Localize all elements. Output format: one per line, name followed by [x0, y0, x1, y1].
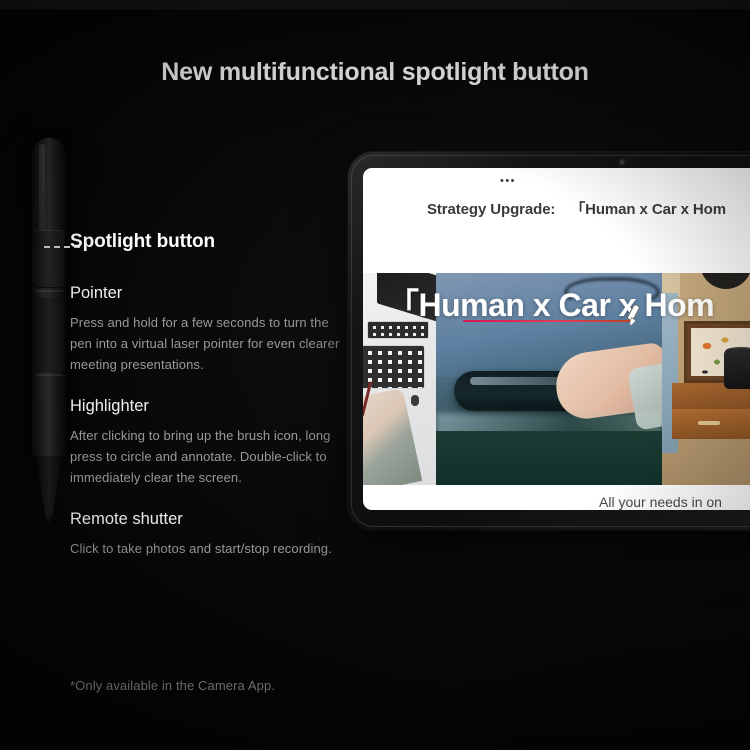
- pen-nib: [45, 512, 53, 524]
- promo-page: New multifunctional spotlight button Spo…: [0, 0, 750, 750]
- feature-heading: Pointer: [70, 284, 348, 304]
- page-title: New multifunctional spotlight button: [0, 58, 750, 87]
- car-body-lower: [436, 431, 662, 485]
- tablet-screen[interactable]: ••• Strategy Upgrade: 「Human x Car x Hom: [363, 168, 750, 510]
- pen-tip: [36, 456, 62, 518]
- keyboard-shape: [363, 345, 425, 389]
- feature-pointer: Pointer Press and hold for a few seconds…: [70, 284, 348, 375]
- mouse-shape: [411, 395, 419, 406]
- pen-highlight: [39, 144, 45, 444]
- tablet-device: ••• Strategy Upgrade: 「Human x Car x Hom: [348, 152, 750, 530]
- feature-body: After clicking to bring up the brush ico…: [70, 425, 348, 488]
- pen-cursor-icon[interactable]: [626, 304, 642, 326]
- pen-groove: [35, 374, 63, 376]
- feature-remote-shutter: Remote shutter Click to take photos and …: [70, 510, 348, 559]
- feature-heading: Remote shutter: [70, 510, 348, 530]
- drawer-handle: [698, 421, 720, 425]
- front-camera-icon: [620, 160, 624, 164]
- feature-body: Press and hold for a few seconds to turn…: [70, 312, 348, 375]
- smart-speaker-shape: [724, 349, 750, 389]
- highlighter-annotation-stroke: [463, 320, 633, 322]
- callout-label: Spotlight button: [70, 232, 348, 253]
- top-edge-strip: [0, 0, 750, 9]
- feature-body: Click to take photos and start/stop reco…: [70, 538, 348, 559]
- feature-heading: Highlighter: [70, 397, 348, 417]
- pen-spotlight-button[interactable]: [34, 230, 64, 288]
- overflow-dots-icon[interactable]: •••: [363, 176, 653, 187]
- feature-copy-column: Spotlight button Pointer Press and hold …: [70, 232, 348, 559]
- feature-highlighter: Highlighter After clicking to bring up t…: [70, 397, 348, 488]
- slide-footer-text: All your needs in on: [363, 494, 750, 510]
- top-edge-shadow: [0, 9, 750, 11]
- pen-mid-segment: [34, 298, 64, 372]
- footnote: *Only available in the Camera App.: [70, 678, 400, 693]
- pen-groove: [35, 290, 63, 292]
- slide-title: Strategy Upgrade: 「Human x Car x Hom: [363, 198, 750, 219]
